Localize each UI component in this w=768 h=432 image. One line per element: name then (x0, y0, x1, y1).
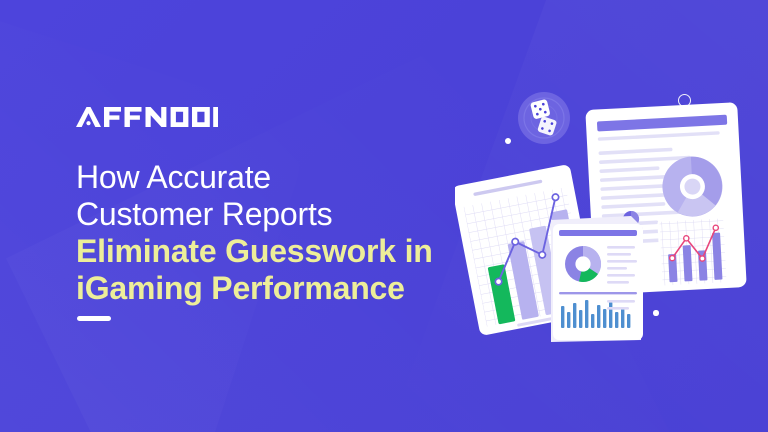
dice-badge (518, 92, 570, 144)
headline-line-3: Eliminate Guesswork in (76, 233, 476, 270)
affnook-logo[interactable] (76, 104, 218, 130)
front-report-card (551, 216, 643, 342)
mini-bar-line-card (657, 216, 728, 287)
analytics-reports-illustration (455, 78, 755, 348)
headline-line-4: iGaming Performance (76, 270, 476, 307)
headline-line-1: How Accurate (76, 159, 476, 196)
heading-underline-rule (77, 316, 111, 321)
banner-canvas: How Accurate Customer Reports Eliminate … (0, 0, 768, 432)
headline-line-2: Customer Reports (76, 196, 476, 233)
front-card-donut (565, 246, 601, 282)
page-title: How Accurate Customer Reports Eliminate … (76, 159, 476, 307)
